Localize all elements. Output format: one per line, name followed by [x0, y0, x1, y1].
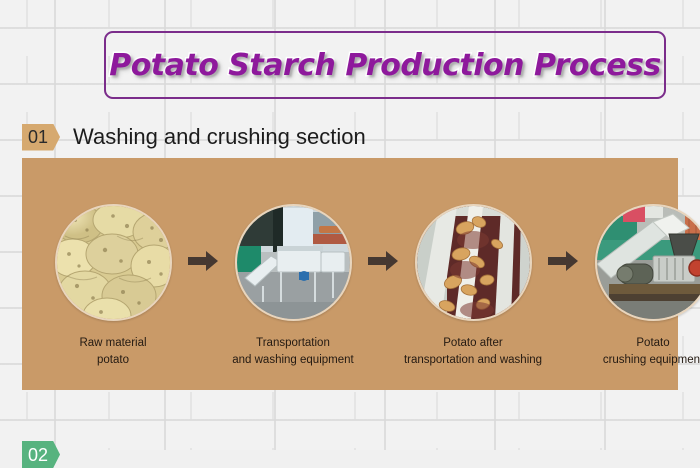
process-panel: Raw material potato [22, 158, 678, 390]
step-4-caption-line1: Potato [577, 335, 700, 352]
process-step-4[interactable]: Potato crushing equipment [582, 204, 700, 368]
step-4-caption-line2: crushing equipment [577, 352, 700, 369]
section-header: 01 Washing and crushing section [22, 121, 366, 153]
arrow-right-icon [188, 250, 218, 272]
step-4-image [595, 204, 700, 321]
process-step-1[interactable]: Raw material potato [42, 204, 184, 368]
next-section-number-badge[interactable]: 02 [22, 441, 60, 468]
step-1-caption-line1: Raw material [37, 335, 189, 352]
page-title: Potato Starch Production Process [109, 48, 661, 83]
arrow-1-wrap [184, 204, 222, 317]
arrow-right-icon [368, 250, 398, 272]
step-1-image [55, 204, 172, 321]
step-2-image [235, 204, 352, 321]
page-background: Potato Starch Production Process 01 Wash… [0, 0, 700, 450]
step-2-caption: Transportation and washing equipment [217, 335, 369, 368]
section-title-label: Washing and crushing section [73, 124, 366, 150]
step-1-caption: Raw material potato [37, 335, 189, 368]
process-step-2[interactable]: Transportation and washing equipment [222, 204, 364, 368]
title-banner: Potato Starch Production Process [104, 31, 666, 99]
arrow-3-wrap [544, 204, 582, 317]
step-2-caption-line1: Transportation [217, 335, 369, 352]
step-4-caption: Potato crushing equipment [577, 335, 700, 368]
section-number-badge: 01 [22, 124, 60, 151]
next-section-number-label: 02 [28, 446, 48, 464]
arrow-2-wrap [364, 204, 402, 317]
process-steps-row: Raw material potato [22, 158, 678, 390]
step-2-caption-line2: and washing equipment [217, 352, 369, 369]
step-3-image [415, 204, 532, 321]
step-1-caption-line2: potato [37, 352, 189, 369]
step-3-caption-line1: Potato after [397, 335, 549, 352]
section-number-label: 01 [28, 128, 48, 146]
arrow-right-icon [548, 250, 578, 272]
step-3-caption-line2: transportation and washing [397, 352, 549, 369]
process-step-3[interactable]: Potato after transportation and washing [402, 204, 544, 368]
step-3-caption: Potato after transportation and washing [397, 335, 549, 368]
